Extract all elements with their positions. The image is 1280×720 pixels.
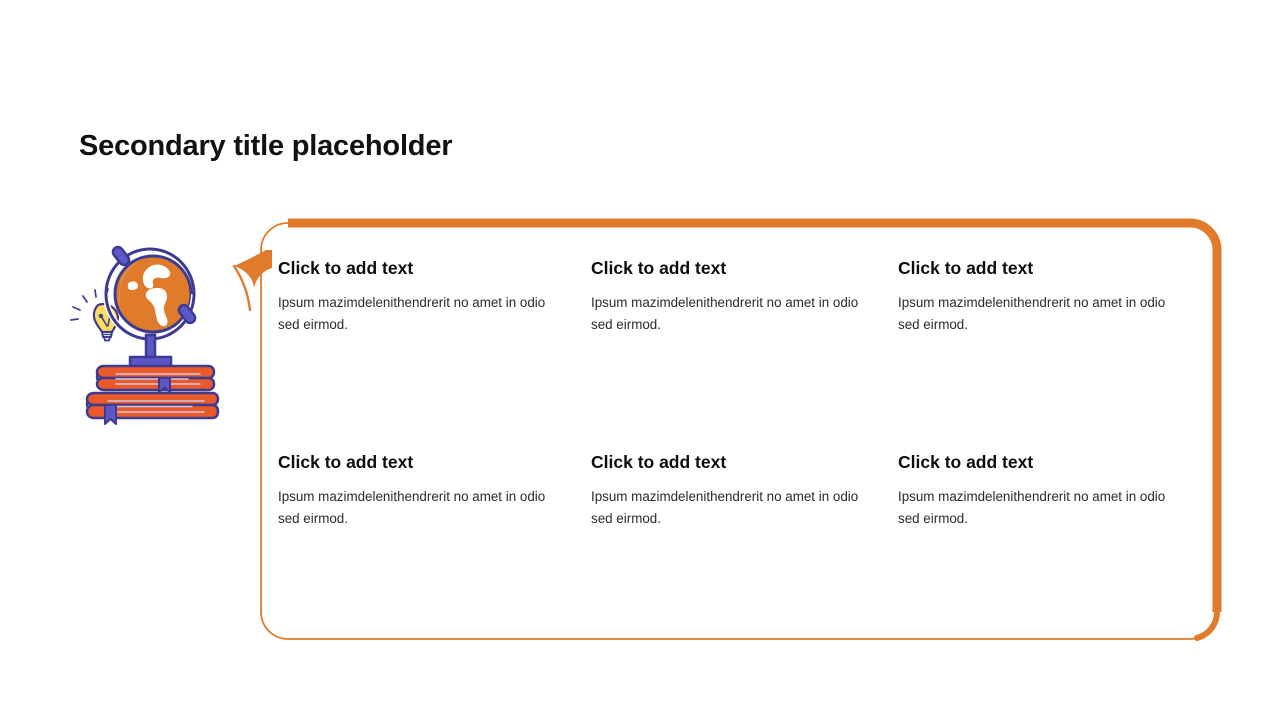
cell-body[interactable]: Ipsum mazimdelenithendrerit no amet in o… [591, 292, 879, 335]
book-stack-icon [87, 366, 218, 424]
cell-body[interactable]: Ipsum mazimdelenithendrerit no amet in o… [278, 486, 566, 529]
cell-body[interactable]: Ipsum mazimdelenithendrerit no amet in o… [591, 486, 879, 529]
cell-heading[interactable]: Click to add text [898, 452, 1190, 473]
callout-border-taper [1197, 612, 1217, 638]
content-cell-1[interactable]: Click to add text Ipsum mazimdelenithend… [278, 258, 591, 452]
content-grid: Click to add text Ipsum mazimdelenithend… [278, 258, 1208, 598]
cell-heading[interactable]: Click to add text [898, 258, 1190, 279]
cell-heading[interactable]: Click to add text [278, 258, 573, 279]
globe-icon [106, 245, 197, 366]
cell-body[interactable]: Ipsum mazimdelenithendrerit no amet in o… [898, 292, 1186, 335]
content-cell-2[interactable]: Click to add text Ipsum mazimdelenithend… [591, 258, 898, 452]
slide-canvas: Secondary title placeholder [0, 0, 1280, 720]
page-title: Secondary title placeholder [79, 130, 452, 163]
cell-body[interactable]: Ipsum mazimdelenithendrerit no amet in o… [278, 292, 566, 335]
cell-heading[interactable]: Click to add text [591, 258, 880, 279]
content-cell-3[interactable]: Click to add text Ipsum mazimdelenithend… [898, 258, 1208, 452]
cell-heading[interactable]: Click to add text [278, 452, 573, 473]
globe-on-books-illustration [58, 238, 253, 443]
content-cell-6[interactable]: Click to add text Ipsum mazimdelenithend… [898, 452, 1208, 598]
content-cell-5[interactable]: Click to add text Ipsum mazimdelenithend… [591, 452, 898, 598]
cell-body[interactable]: Ipsum mazimdelenithendrerit no amet in o… [898, 486, 1186, 529]
content-cell-4[interactable]: Click to add text Ipsum mazimdelenithend… [278, 452, 591, 598]
cell-heading[interactable]: Click to add text [591, 452, 880, 473]
